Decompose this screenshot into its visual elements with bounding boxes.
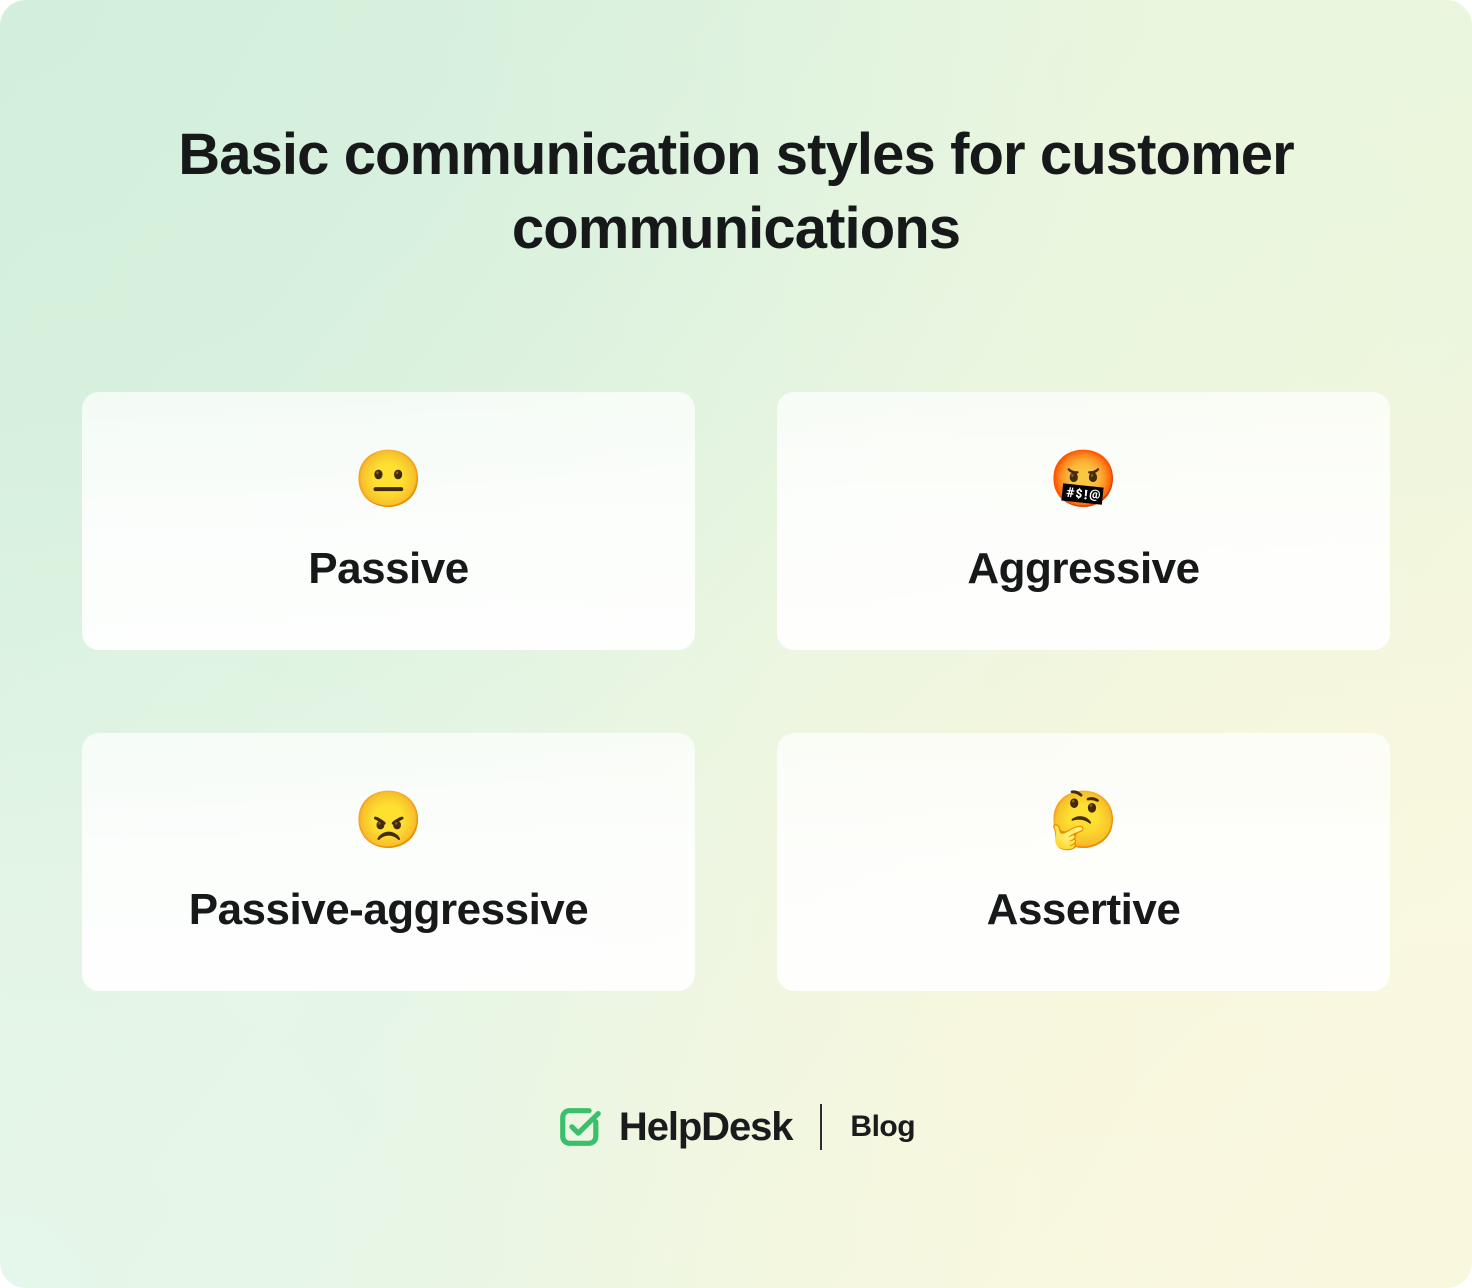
angry-face-emoji: 😠 <box>354 789 424 851</box>
brand-name: HelpDesk <box>619 1107 793 1147</box>
style-card-assertive: 🤔 Assertive <box>777 733 1390 991</box>
style-card-label: Assertive <box>987 885 1181 935</box>
face-with-symbols-on-mouth-emoji: 🤬 <box>1049 448 1119 510</box>
blog-label: Blog <box>850 1112 915 1142</box>
thinking-face-emoji: 🤔 <box>1049 789 1119 851</box>
communication-styles-grid: 😐 Passive 🤬 Aggressive 😠 Passive-aggress… <box>82 392 1390 991</box>
page-title: Basic communication styles for customer … <box>104 118 1368 266</box>
style-card-passive-aggressive: 😠 Passive-aggressive <box>82 733 695 991</box>
helpdesk-brand: HelpDesk <box>557 1104 793 1150</box>
helpdesk-checkbox-logo-icon <box>557 1104 603 1150</box>
footer-divider <box>820 1104 822 1150</box>
footer: HelpDesk Blog <box>0 1104 1472 1150</box>
style-card-label: Passive <box>308 544 468 594</box>
style-card-label: Aggressive <box>967 544 1199 594</box>
infographic-canvas: Basic communication styles for customer … <box>0 0 1472 1288</box>
neutral-face-emoji: 😐 <box>354 448 424 510</box>
style-card-passive: 😐 Passive <box>82 392 695 650</box>
style-card-label: Passive-aggressive <box>189 885 589 935</box>
style-card-aggressive: 🤬 Aggressive <box>777 392 1390 650</box>
